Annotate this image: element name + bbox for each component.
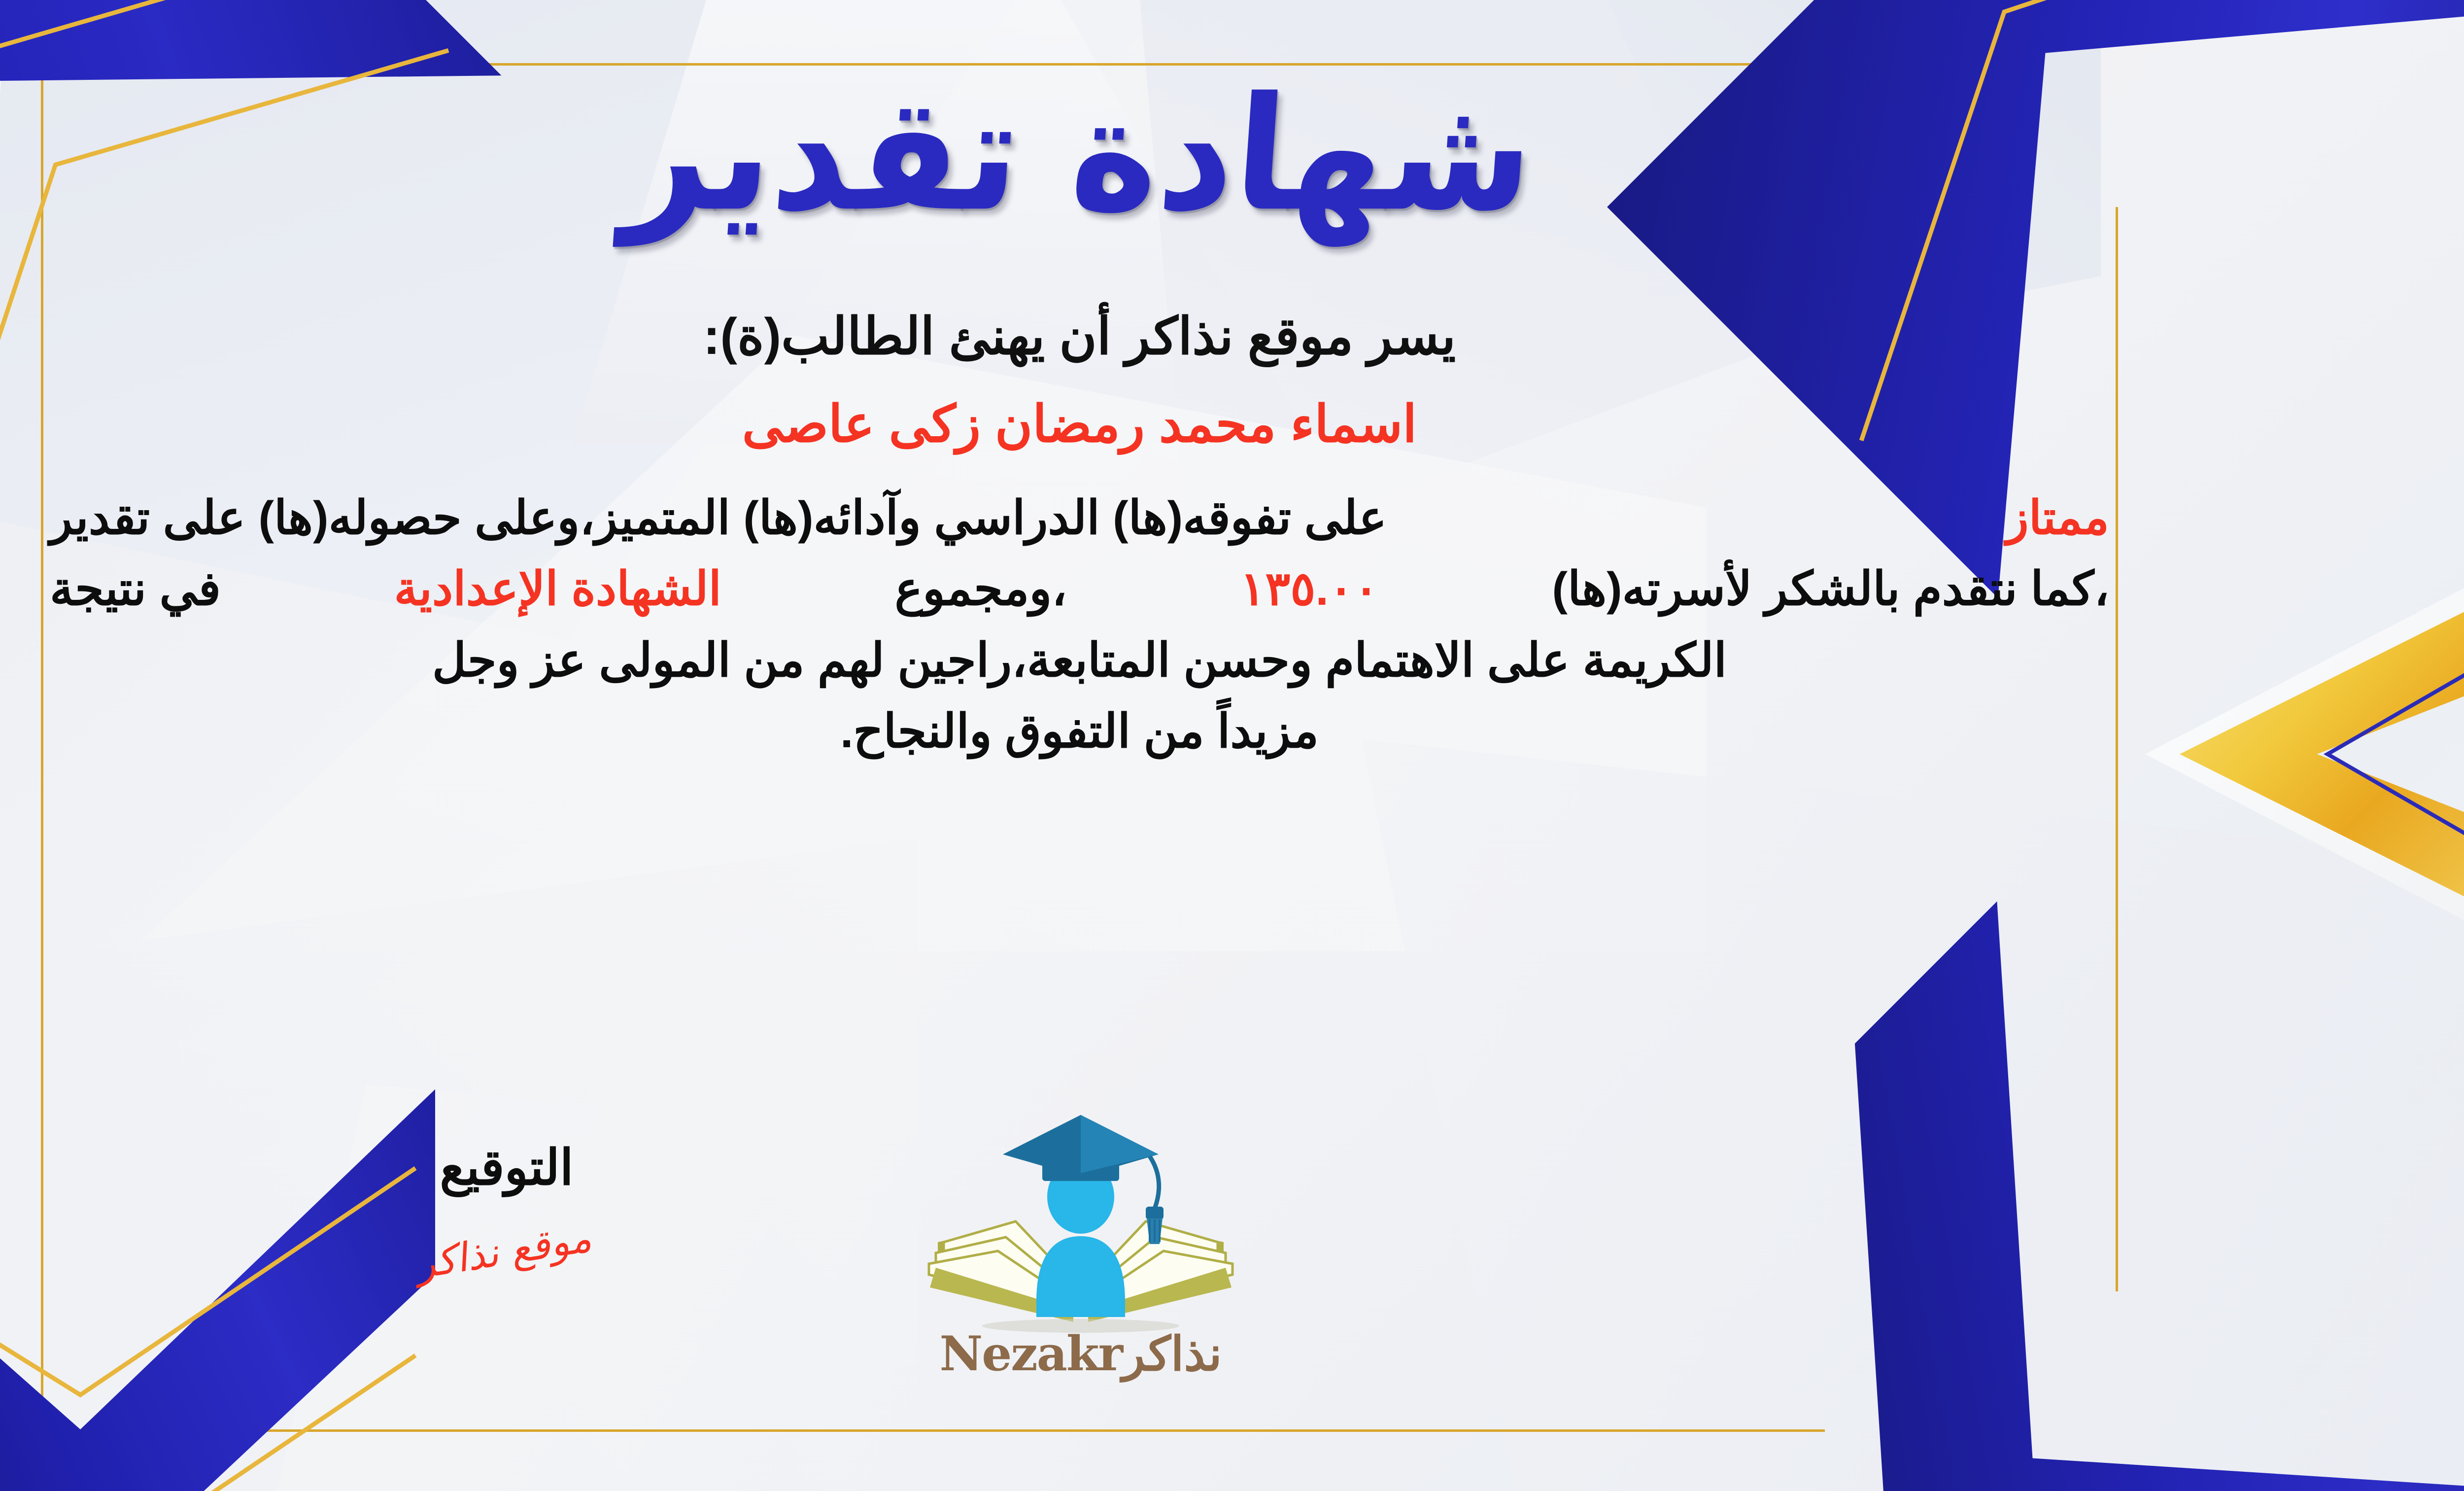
certificate-footer: التوقيع موقع نذاكر [41,1089,2118,1405]
body-line-wishes: مزيداً من التفوق والنجاح. [41,696,2118,767]
thanks-family-text: ،كما نتقدم بالشكر لأسرته(ها) [1552,554,2109,624]
body-line-result: ،كما نتقدم بالشكر لأسرته(ها) ١٣٥.٠٠ ،ومج… [41,554,2118,624]
certificate-card: شهادة تقدير يسر موقع نذاكر أن يهنئ الطال… [0,0,2464,1491]
brand-name-latin: Nezakr [939,1326,1122,1382]
page-title: شهادة تقدير [620,72,1540,237]
exam-name-value: الشهادة الإعدادية [394,554,722,624]
grade-value: ممتاز [2006,483,2109,554]
body-line-achievement-text: على تفوقه(ها) الدراسي وآدائه(ها) المتميز… [50,483,1387,554]
body-line-achievement: ممتاز على تفوقه(ها) الدراسي وآدائه(ها) ا… [41,483,2118,554]
greeting-text: يسر موقع نذاكر أن يهنئ الطالب(ة): [703,306,1456,366]
total-label: ،ومجموع [894,554,1066,624]
signature-label: التوقيع [334,1139,679,1196]
signature-handwriting: موقع نذاكر [418,1214,595,1288]
result-label: في نتيجة [50,554,221,624]
signature-block: التوقيع موقع نذاكر [334,1139,679,1274]
brand-logo: نذاكرNezakr [889,1094,1273,1400]
brand-logo-text: نذاكرNezakr [889,1326,1273,1382]
certificate-body: ممتاز على تفوقه(ها) الدراسي وآدائه(ها) ا… [41,483,2118,767]
student-name: اسماء محمد رمضان زكى عاصى [742,394,1417,454]
gold-chevron-inner-line [2180,552,2464,956]
total-score-value: ١٣٥.٠٠ [1240,554,1379,624]
body-line-gratitude: الكريمة على الاهتمام وحسن المتابعة،راجين… [41,625,2118,696]
certificate-content: شهادة تقدير يسر موقع نذاكر أن يهنئ الطال… [41,63,2118,1432]
brand-name-arabic: نذاكر [1122,1328,1222,1381]
